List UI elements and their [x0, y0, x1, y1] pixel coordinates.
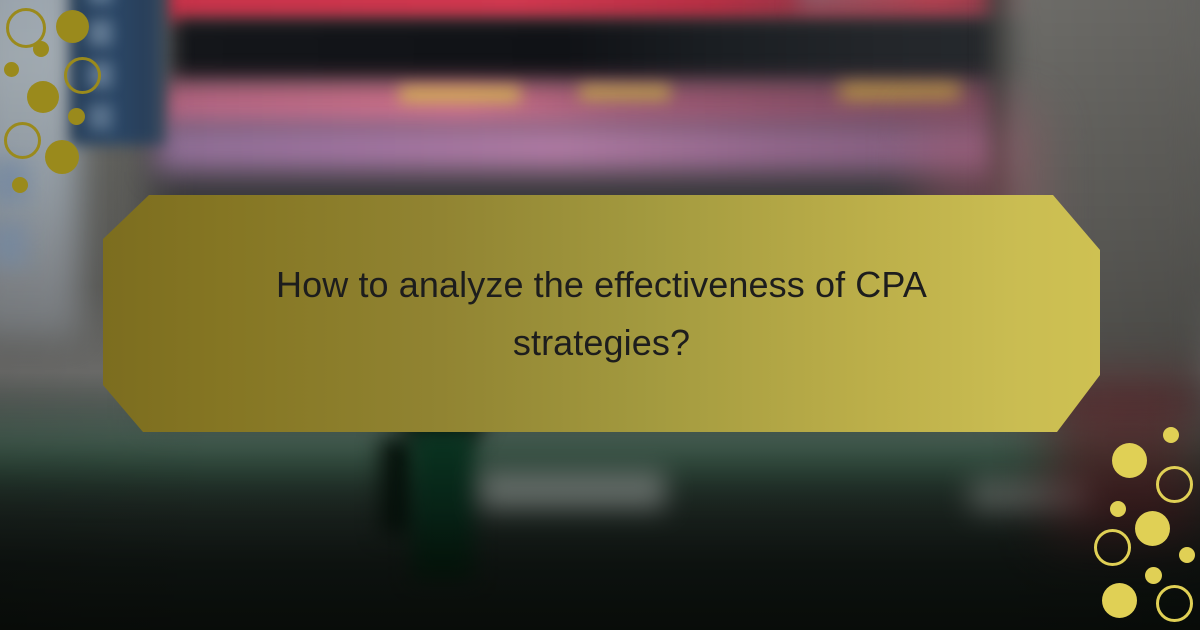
banner-stage: How to analyze the effectiveness of CPA … [0, 0, 1200, 630]
headline-text: How to analyze the effectiveness of CPA … [242, 256, 962, 372]
headline-banner: How to analyze the effectiveness of CPA … [103, 195, 1100, 432]
